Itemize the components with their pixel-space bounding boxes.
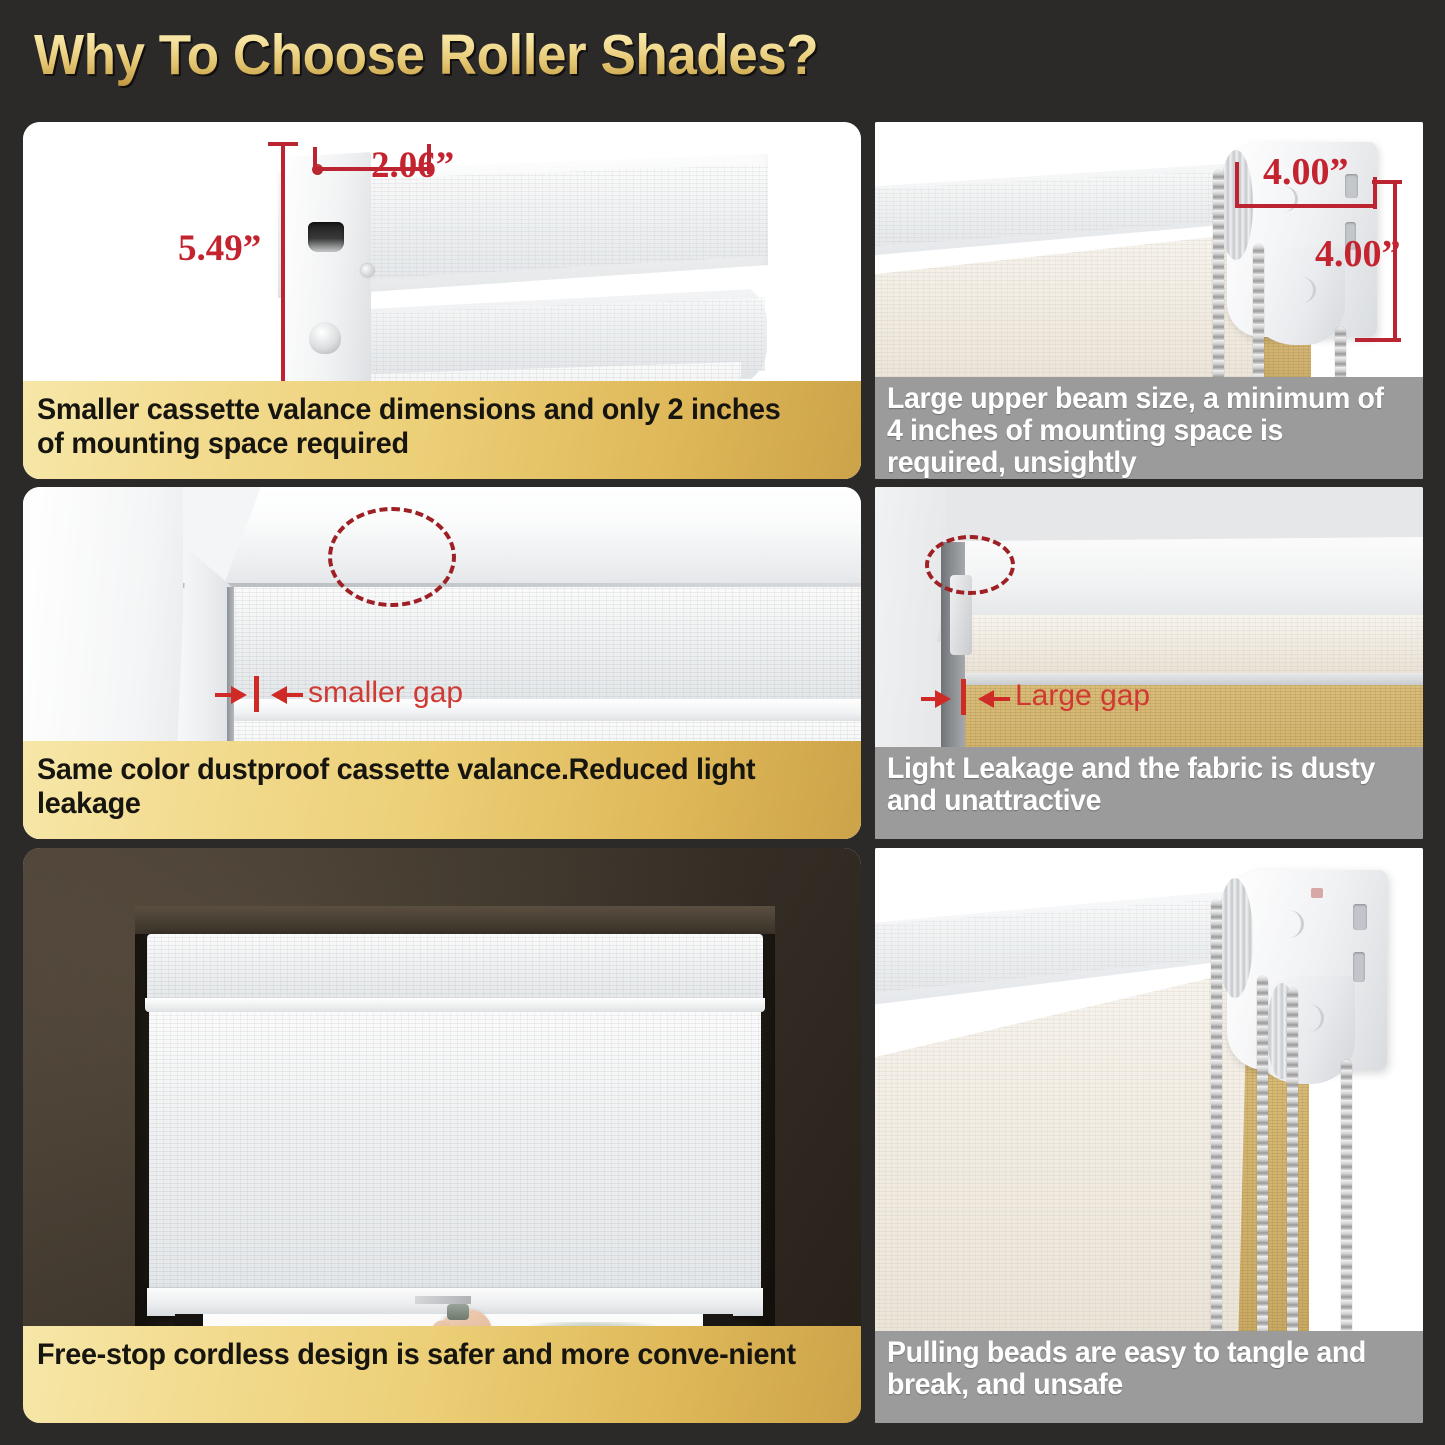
panel-4-caption-bar: Light Leakage and the fabric is dusty an…	[875, 747, 1423, 839]
dim-400h-label: 4.00”	[1315, 232, 1401, 276]
gap-arrow-left-stem	[215, 693, 233, 697]
bracket-slot-b	[1353, 952, 1365, 982]
headrail-panel5	[147, 934, 763, 1006]
bracket-logo-lower	[1287, 277, 1316, 303]
gap-marker-bar	[254, 676, 259, 712]
bead-chain-long-2	[1257, 976, 1268, 1370]
panel-2-caption-bar: Large upper beam size, a minimum of 4 in…	[875, 377, 1423, 479]
highlight-circle-large-gap	[925, 535, 1015, 595]
window-recess-top-ledge	[135, 906, 775, 934]
end-cap-slot	[308, 222, 344, 252]
dim-400h-tick-bottom	[1355, 338, 1401, 342]
headrail-lip-panel5	[145, 998, 765, 1012]
comparison-grid: 2.06” 5.49” Smaller cassette valance dim…	[0, 110, 1445, 1440]
panel-1-caption-bar: Smaller cassette valance dimensions and …	[23, 381, 861, 479]
panel-light-leakage[interactable]: Large gap Light Leakage and the fabric i…	[875, 487, 1423, 839]
shade-face-panel6	[875, 968, 1253, 1388]
large-gap-arrow-right-stem	[992, 697, 1010, 701]
panel-smaller-cassette[interactable]: 2.06” 5.49” Smaller cassette valance dim…	[23, 122, 861, 479]
roller-end-rings-panel6	[1217, 878, 1253, 998]
dim-549-tick-top	[268, 142, 298, 146]
panel-6-caption-text: Pulling beads are easy to tangle and bre…	[887, 1337, 1385, 1401]
bracket-slot-a	[1353, 904, 1367, 930]
panel-5-caption-text: Free-stop cordless design is safer and m…	[37, 1338, 796, 1372]
bead-chain-long-1	[1211, 900, 1222, 1370]
dim-206-label: 2.06”	[371, 144, 454, 187]
cream-band	[955, 615, 1423, 675]
bead-chain-1	[1213, 170, 1224, 408]
bracket-pink-dot	[1311, 888, 1323, 898]
panel-6-caption-bar: Pulling beads are easy to tangle and bre…	[875, 1331, 1423, 1423]
bead-chain-long-4	[1341, 1060, 1352, 1370]
bead-chain-long-3	[1287, 988, 1298, 1370]
panel-5-caption-bar: Free-stop cordless design is safer and m…	[23, 1326, 861, 1423]
end-cap-knob	[309, 322, 341, 354]
panel-cordless-design[interactable]: Free-stop cordless design is safer and m…	[23, 848, 861, 1423]
brand-tag	[415, 1296, 471, 1304]
window-frame-moulding	[163, 487, 861, 597]
dim-549-label: 5.49”	[178, 227, 261, 270]
panel-1-caption-text: Smaller cassette valance dimensions and …	[37, 393, 815, 461]
gap-arrow-left	[231, 686, 247, 704]
gap-label-large: Large gap	[1015, 679, 1150, 713]
gap-label-smaller: smaller gap	[308, 676, 463, 710]
dim-400w-label: 4.00”	[1263, 150, 1349, 194]
panel-4-caption-text: Light Leakage and the fabric is dusty an…	[887, 753, 1385, 817]
panel-2-caption-text: Large upper beam size, a minimum of 4 in…	[887, 383, 1385, 479]
panel-3-caption-bar: Same color dustproof cassette valance.Re…	[23, 741, 861, 839]
large-gap-arrow-left-stem	[921, 697, 939, 701]
large-gap-marker-bar	[961, 679, 966, 715]
grip-knob	[447, 1304, 469, 1320]
gap-arrow-right-stem	[285, 693, 303, 697]
panel-3-caption-text: Same color dustproof cassette valance.Re…	[37, 753, 815, 821]
dim-400w-line	[1235, 204, 1377, 208]
panel-pulling-beads[interactable]: Pulling beads are easy to tangle and bre…	[875, 848, 1423, 1423]
panel-large-beam[interactable]: 4.00” 4.00” Large upper beam size, a min…	[875, 122, 1423, 479]
dim-400h-tick-top	[1372, 180, 1402, 184]
dim-400w-tick-left	[1235, 162, 1239, 208]
highlight-circle-small-gap	[328, 507, 456, 607]
page-title: Why To Choose Roller Shades?	[34, 22, 818, 88]
screw-upper	[361, 264, 374, 277]
dim-206-tick-left	[313, 147, 317, 173]
bracket-logo-a	[1273, 910, 1304, 938]
shade-body-panel5	[149, 1012, 761, 1300]
panel-dustproof-valance[interactable]: smaller gap Same color dustproof cassett…	[23, 487, 861, 839]
